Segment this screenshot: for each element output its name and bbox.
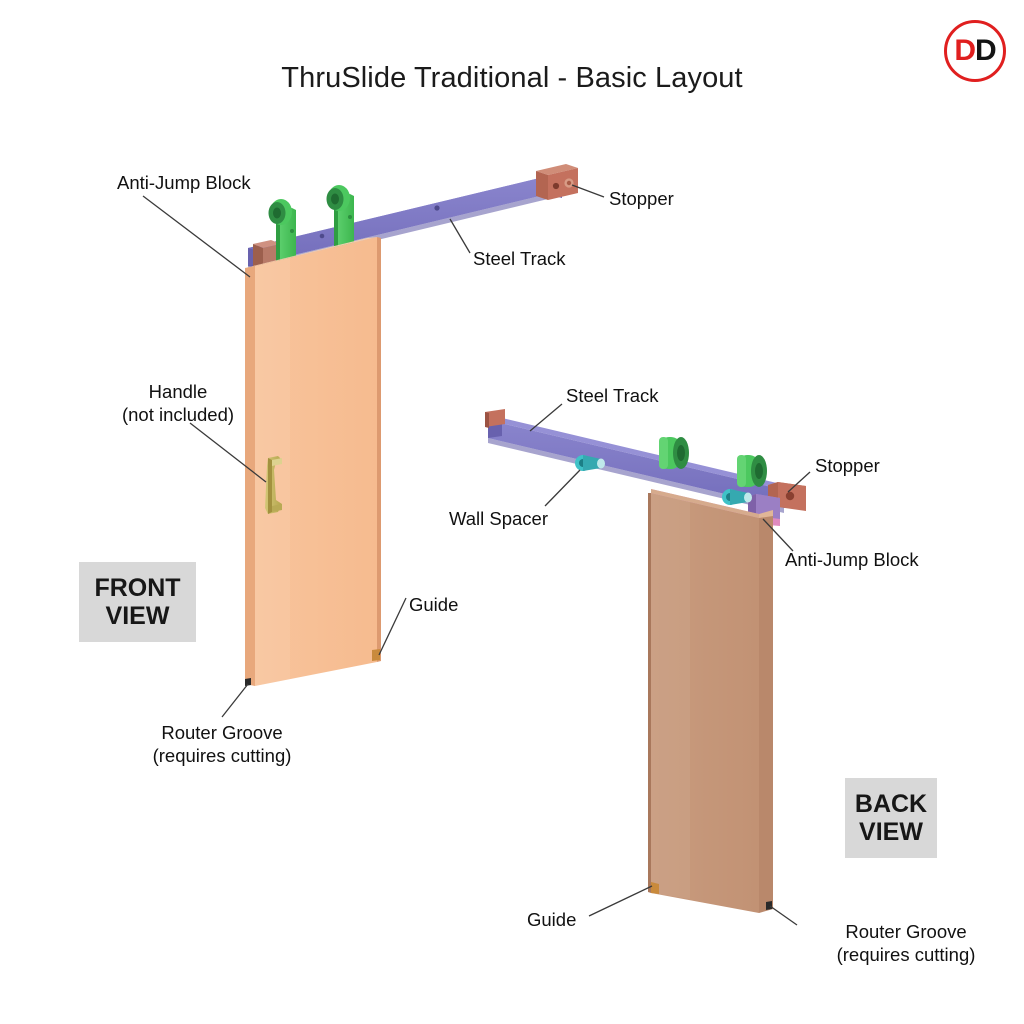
logo-letter-1: D: [954, 36, 975, 66]
label-back-guide: Guide: [527, 909, 576, 932]
front-view-badge-line2: VIEW: [106, 602, 170, 630]
label-back-stopper: Stopper: [815, 455, 880, 478]
label-back-wall-spacer: Wall Spacer: [330, 508, 548, 531]
label-front-steel-track: Steel Track: [473, 248, 566, 271]
back-view-badge-line2: VIEW: [859, 818, 923, 846]
back-hanger-right: [737, 455, 767, 487]
front-stopper: [536, 164, 578, 200]
label-back-steel-track: Steel Track: [566, 385, 659, 408]
brand-logo[interactable]: DD: [944, 20, 1006, 82]
back-router-groove: [766, 901, 772, 910]
front-door-panel: [245, 237, 381, 686]
back-door-guide: [651, 882, 659, 894]
diagram-canvas: ThruSlide Traditional - Basic Layout DD …: [0, 0, 1024, 1024]
label-front-anti-jump-block: Anti-Jump Block: [117, 172, 251, 195]
leader-back-wall-spacer: [545, 470, 580, 506]
back-door-panel: [648, 489, 773, 913]
back-hanger-left: [659, 437, 689, 469]
label-back-anti-jump-block: Anti-Jump Block: [785, 549, 919, 572]
leader-front-steel-track: [450, 219, 470, 253]
leader-front-router-groove: [222, 684, 248, 717]
front-view-badge: FRONT VIEW: [79, 562, 196, 642]
back-view-assembly: [485, 409, 806, 913]
label-front-router-groove: Router Groove (requires cutting): [96, 722, 348, 767]
front-view-badge-line1: FRONT: [94, 574, 180, 602]
label-front-handle: Handle (not included): [98, 381, 258, 426]
page-title: ThruSlide Traditional - Basic Layout: [0, 62, 1024, 95]
logo-letter-2: D: [975, 36, 996, 66]
front-door-guide: [372, 649, 380, 661]
label-back-router-groove: Router Groove (requires cutting): [782, 921, 1024, 966]
logo-letters: DD: [944, 20, 1006, 82]
back-view-badge: BACK VIEW: [845, 778, 937, 858]
leader-front-anti-jump-block: [143, 196, 250, 277]
leader-back-steel-track: [530, 404, 562, 431]
label-front-stopper: Stopper: [609, 188, 674, 211]
back-view-badge-line1: BACK: [855, 790, 927, 818]
leader-back-guide: [589, 886, 652, 916]
leader-front-guide: [379, 598, 406, 655]
label-front-guide: Guide: [409, 594, 458, 617]
